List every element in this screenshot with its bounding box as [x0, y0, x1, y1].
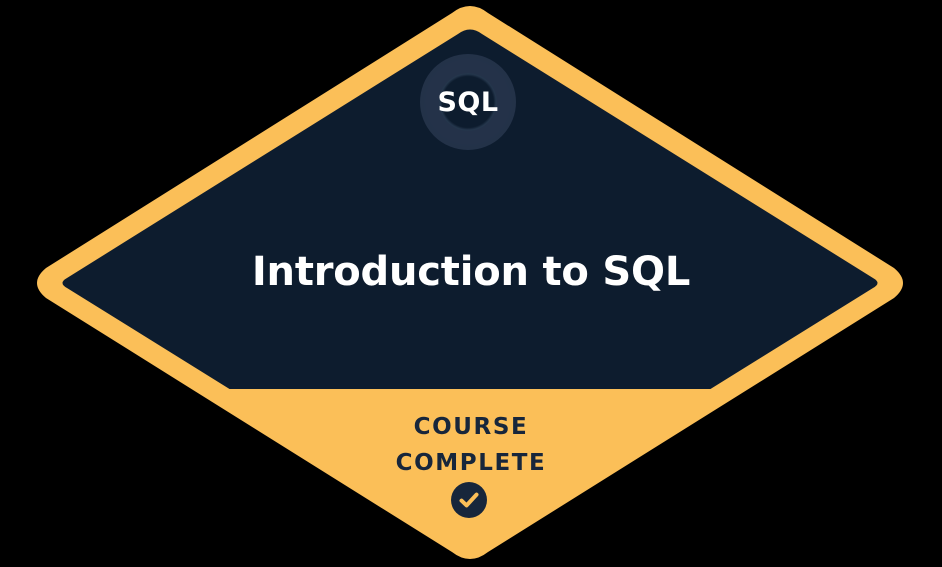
completion-status: COURSE COMPLETE — [0, 409, 942, 481]
sql-ring-icon: SQL — [408, 42, 528, 162]
course-completion-badge: SQL Introduction to SQL COURSE COMPLETE — [0, 0, 942, 567]
course-title: Introduction to SQL — [0, 246, 942, 298]
status-line-course: COURSE — [0, 409, 942, 445]
check-circle-icon — [451, 482, 487, 518]
badge-content-layer: SQL Introduction to SQL COURSE COMPLETE — [0, 0, 942, 567]
status-line-complete: COMPLETE — [0, 445, 942, 481]
sql-tag-label: SQL — [408, 42, 528, 162]
